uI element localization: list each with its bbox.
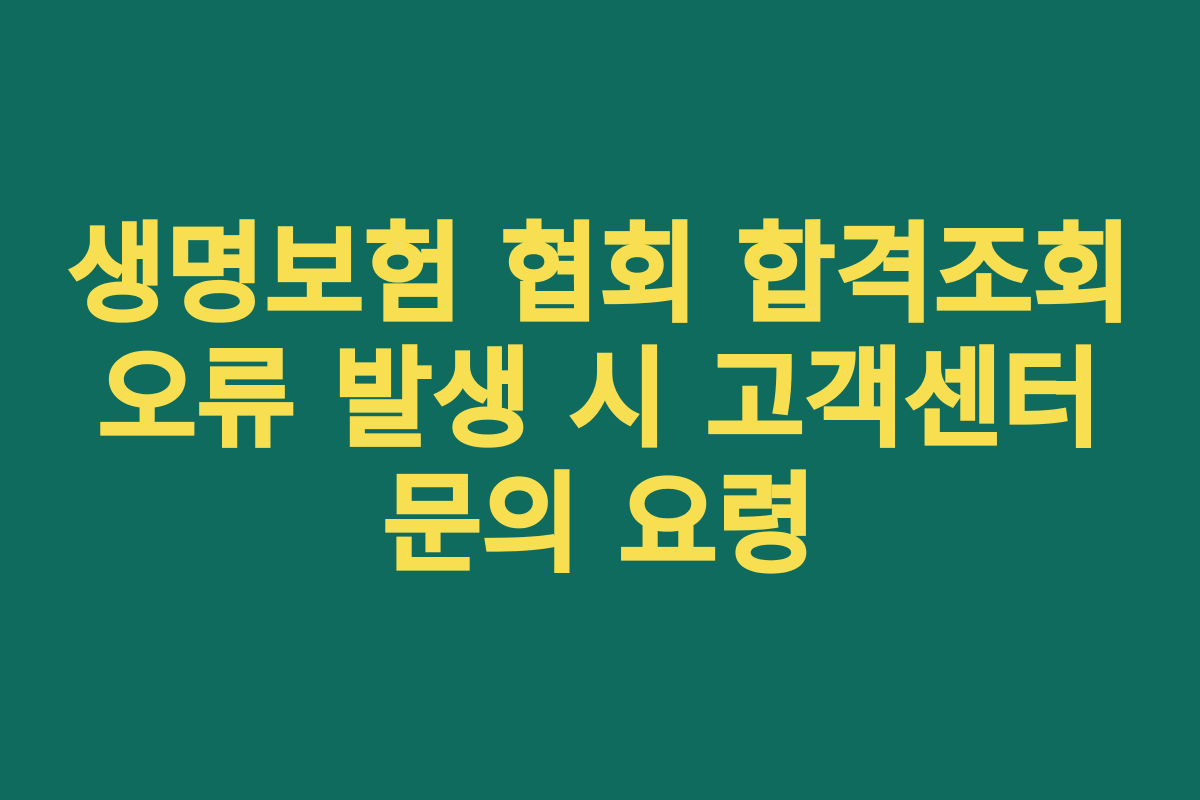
- thumbnail-card: 생명보험 협회 합격조회 오류 발생 시 고객센터 문의 요령: [0, 0, 1200, 800]
- headline-line-1: 생명보험 협회 합격조회: [60, 213, 1140, 338]
- headline-line-2: 오류 발생 시 고객센터: [60, 338, 1140, 463]
- headline-block: 생명보험 협회 합격조회 오류 발생 시 고객센터 문의 요령: [60, 213, 1140, 588]
- headline-line-3: 문의 요령: [60, 463, 1140, 588]
